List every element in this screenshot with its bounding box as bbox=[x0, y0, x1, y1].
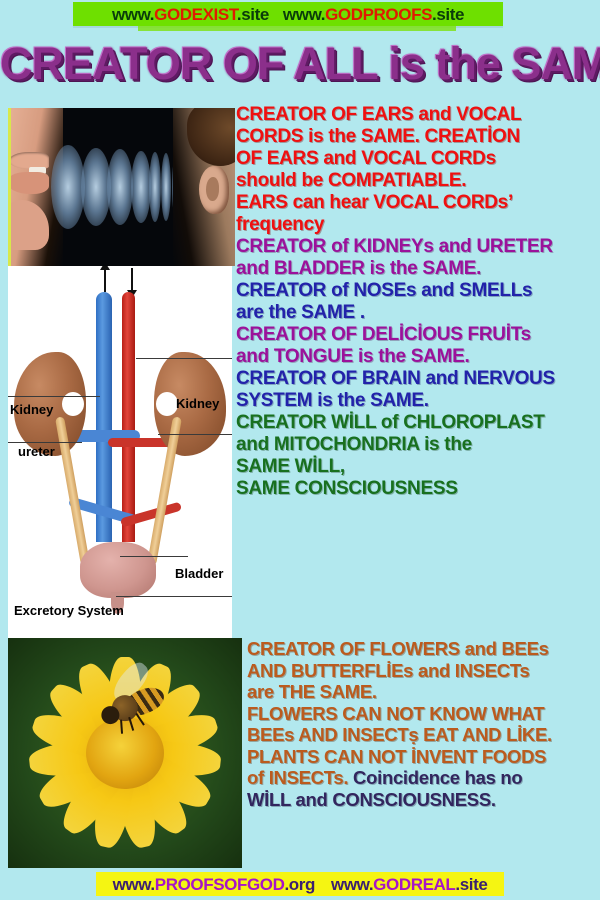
soundwave-4 bbox=[131, 151, 151, 223]
line: are THE SAME. bbox=[247, 681, 597, 703]
ear bbox=[199, 166, 229, 214]
line: and BLADDER is the SAME. bbox=[236, 258, 598, 280]
tail-navy-1: Coincidence has no bbox=[348, 767, 522, 788]
leader-line-ureter bbox=[8, 442, 82, 443]
label-ureter: ureter bbox=[18, 444, 55, 459]
flower-text-brown: CREATOR OF FLOWERS and BEEs AND BUTTERFL… bbox=[247, 638, 597, 767]
line: SAME CONSCIOUSNESS bbox=[236, 478, 598, 500]
label-excretory-system: Excretory System bbox=[14, 603, 124, 618]
hair bbox=[187, 108, 235, 166]
chin bbox=[8, 200, 49, 250]
line: CREATOR of NOSEs and SMELLs bbox=[236, 280, 598, 302]
line: CREATOR OF EARS and VOCAL bbox=[236, 104, 598, 126]
leader-line-renal bbox=[158, 434, 232, 435]
top-link-godproofs-suffix: .site bbox=[432, 5, 464, 24]
text-block-chloroplast-mitochondria: CREATOR WİLL of CHLOROPLAST and MITOCHON… bbox=[236, 412, 598, 500]
soundwave-5 bbox=[149, 152, 161, 222]
line: CREATOR of KIDNEYs and URETER bbox=[236, 236, 598, 258]
text-block-noses-smells: CREATOR of NOSEs and SMELLs are the SAME… bbox=[236, 280, 598, 324]
text-block-brain-nervous-system: CREATOR OF BRAIN and NERVOUS SYSTEM is t… bbox=[236, 368, 598, 412]
bottom-url-banner: www.PROOFSOFGOD.org www.GODREAL.site bbox=[96, 872, 504, 896]
soundwave-1 bbox=[51, 145, 85, 229]
line: AND BUTTERFLİEs and INSECTs bbox=[247, 660, 597, 682]
label-kidney-right: Kidney bbox=[176, 396, 219, 411]
top-link-godexist-suffix: .site bbox=[237, 5, 269, 24]
poster-root: www.GODEXIST.site www.GODPROOFS.site CRE… bbox=[0, 0, 600, 900]
line: PLANTS CAN NOT İNVENT FOODS bbox=[247, 746, 597, 768]
leader-line-aorta bbox=[136, 358, 232, 359]
bottom-link-proofsofgod[interactable]: www.PROOFSOFGOD.org bbox=[113, 876, 315, 893]
line-mixed: of INSECTs. Coincidence has no bbox=[247, 767, 597, 789]
top-link-godproofs-brand: GODPROOFS bbox=[325, 5, 432, 24]
arrow-down-icon bbox=[131, 268, 133, 292]
bottom-link-godreal[interactable]: www.GODREAL.site bbox=[331, 876, 487, 893]
top-url-banner: www.GODEXIST.site www.GODPROOFS.site bbox=[73, 2, 503, 26]
line: frequency bbox=[236, 214, 598, 236]
line: should be COMPATIABLE. bbox=[236, 170, 598, 192]
label-kidney-left: Kidney bbox=[10, 402, 53, 417]
bee-leg bbox=[120, 720, 123, 734]
line: EARS can hear VOCAL CORDs’ bbox=[236, 192, 598, 214]
soundwave-6 bbox=[161, 153, 171, 221]
text-block-flowers-bees-insects: CREATOR OF FLOWERS and BEEs AND BUTTERFL… bbox=[247, 638, 597, 810]
top-link-godexist[interactable]: www.GODEXIST.site bbox=[112, 6, 269, 23]
banner-underline bbox=[138, 26, 456, 31]
tail-navy-2: WİLL and CONSCIOUSNESS. bbox=[247, 789, 597, 811]
top-link-godexist-brand: GODEXIST bbox=[154, 5, 237, 24]
top-link-godexist-prefix: www. bbox=[112, 5, 154, 24]
line: BEEs AND INSECTṣ EAT AND LİKE. bbox=[247, 724, 597, 746]
arrow-up-icon bbox=[104, 268, 106, 292]
bottom-link-godreal-suffix: .site bbox=[455, 875, 487, 894]
line: and MITOCHONDRIA is the bbox=[236, 434, 598, 456]
line: CREATOR WİLL of CHLOROPLAST bbox=[236, 412, 598, 434]
bottom-link-proofsofgod-suffix: .org bbox=[284, 875, 315, 894]
line: OF EARS and VOCAL CORDs bbox=[236, 148, 598, 170]
bottom-link-godreal-prefix: www. bbox=[331, 875, 373, 894]
text-block-fruits-tongue: CREATOR OF DELİCİOUS FRUİTs and TONGUE i… bbox=[236, 324, 598, 368]
lower-lip bbox=[8, 172, 49, 194]
sound-wave-image bbox=[8, 108, 235, 266]
head-illustration bbox=[173, 108, 235, 266]
tail-brown: of INSECTs. bbox=[247, 767, 348, 788]
top-link-godproofs-prefix: www. bbox=[283, 5, 325, 24]
line: CREATOR OF BRAIN and NERVOUS bbox=[236, 368, 598, 390]
line: CORDS is the SAME. CREATİON bbox=[236, 126, 598, 148]
leader-line-bladder bbox=[120, 556, 188, 557]
bottom-link-proofsofgod-brand: PROOFSOFGOD bbox=[155, 875, 285, 894]
excretory-system-image: Kidney Kidney ureter Bladder Excretory S… bbox=[8, 266, 232, 638]
text-block-kidneys-ureter-bladder: CREATOR of KIDNEYs and URETER and BLADDE… bbox=[236, 236, 598, 280]
line: CREATOR OF DELİCİOUS FRUİTs bbox=[236, 324, 598, 346]
leader-line-system bbox=[116, 596, 232, 597]
line: are the SAME . bbox=[236, 302, 598, 324]
soundwave-3 bbox=[107, 149, 133, 225]
line: FLOWERS CAN NOT KNOW WHAT bbox=[247, 703, 597, 725]
bottom-link-godreal-brand: GODREAL bbox=[373, 875, 455, 894]
flower-text-tail: of INSECTs. Coincidence has no WİLL and … bbox=[247, 767, 597, 810]
line: and TONGUE is the SAME. bbox=[236, 346, 598, 368]
line: SYSTEM is the SAME. bbox=[236, 390, 598, 412]
flower-bee-image bbox=[8, 638, 242, 868]
bottom-link-proofsofgod-prefix: www. bbox=[113, 875, 155, 894]
bladder-organ bbox=[80, 542, 156, 598]
line: CREATOR OF FLOWERS and BEEs bbox=[247, 638, 597, 660]
leader-line-kidney-left bbox=[8, 396, 100, 397]
text-block-ears-vocal-cords: CREATOR OF EARS and VOCAL CORDS is the S… bbox=[236, 104, 598, 236]
top-link-godproofs[interactable]: www.GODPROOFS.site bbox=[283, 6, 464, 23]
page-title: CREATOR OF ALL is the SAME bbox=[0, 38, 600, 90]
text-column: CREATOR OF EARS and VOCAL CORDS is the S… bbox=[236, 104, 598, 500]
label-bladder: Bladder bbox=[175, 566, 223, 581]
aorta bbox=[122, 292, 135, 542]
line: SAME WİLL, bbox=[236, 456, 598, 478]
